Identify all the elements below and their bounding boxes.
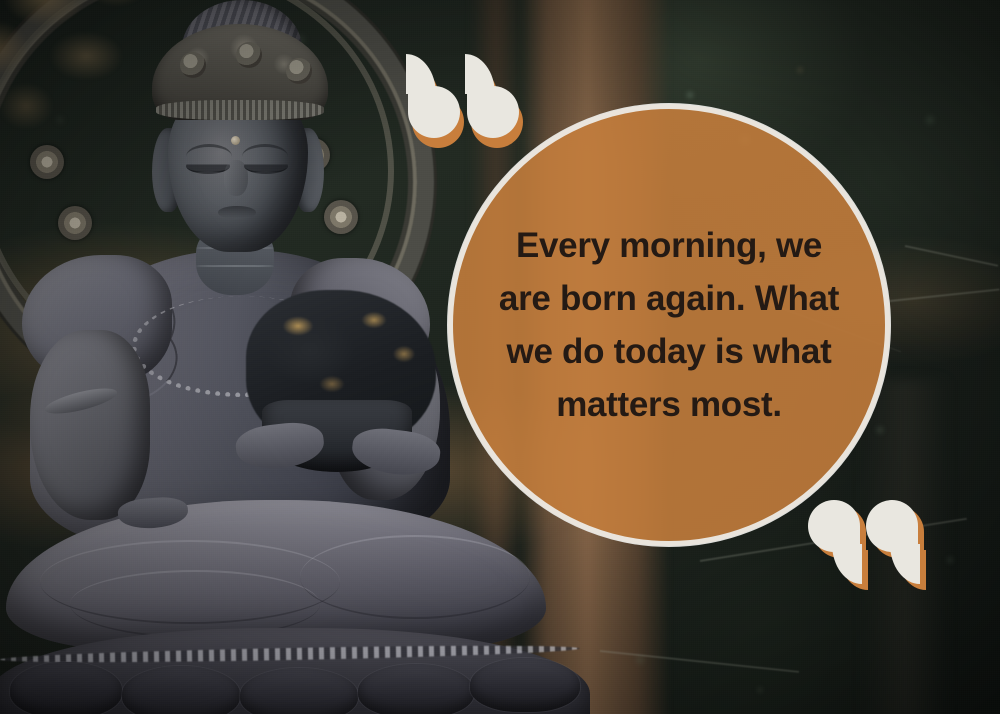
statue-eye-right [244,158,288,174]
statue-urna-jewel [231,136,240,145]
quote-text: Every morning, we are born again. What w… [484,219,854,432]
lotus-petal [10,662,122,714]
quote-line: Every morning, we [484,219,854,272]
lotus-petal [470,658,580,712]
lotus-petal [358,664,474,714]
halo-flower-medallion [324,200,358,234]
lap-fold [300,535,530,619]
crown-jewel [236,42,262,68]
quote-mark-white-tail [890,544,920,584]
statue-crown-band [156,100,324,120]
quote-circle: Every morning, we are born again. What w… [448,104,890,546]
neck-crease [196,265,274,267]
statue-nose [224,160,248,196]
halo-flower-medallion [58,206,92,240]
lotus-petal [240,668,358,714]
quote-graphic-canvas: Every morning, we are born again. What w… [0,0,1000,714]
open-quote-mark-icon [408,68,464,148]
close-quote-mark-icon [808,500,864,580]
statue-mouth [218,206,256,219]
quote-line: we do today is what [484,325,854,378]
crown-jewel [180,52,206,78]
quote-line: are born again. What [484,272,854,325]
quote-mark-white-tail [832,544,862,584]
statue-arm-left [30,330,150,520]
halo-flower-medallion [30,145,64,179]
lotus-petal [122,666,240,714]
open-quote-mark-icon [467,68,523,148]
close-quote-mark-icon [866,500,922,580]
quote-line: matters most. [484,378,854,431]
crown-jewel [286,58,312,84]
